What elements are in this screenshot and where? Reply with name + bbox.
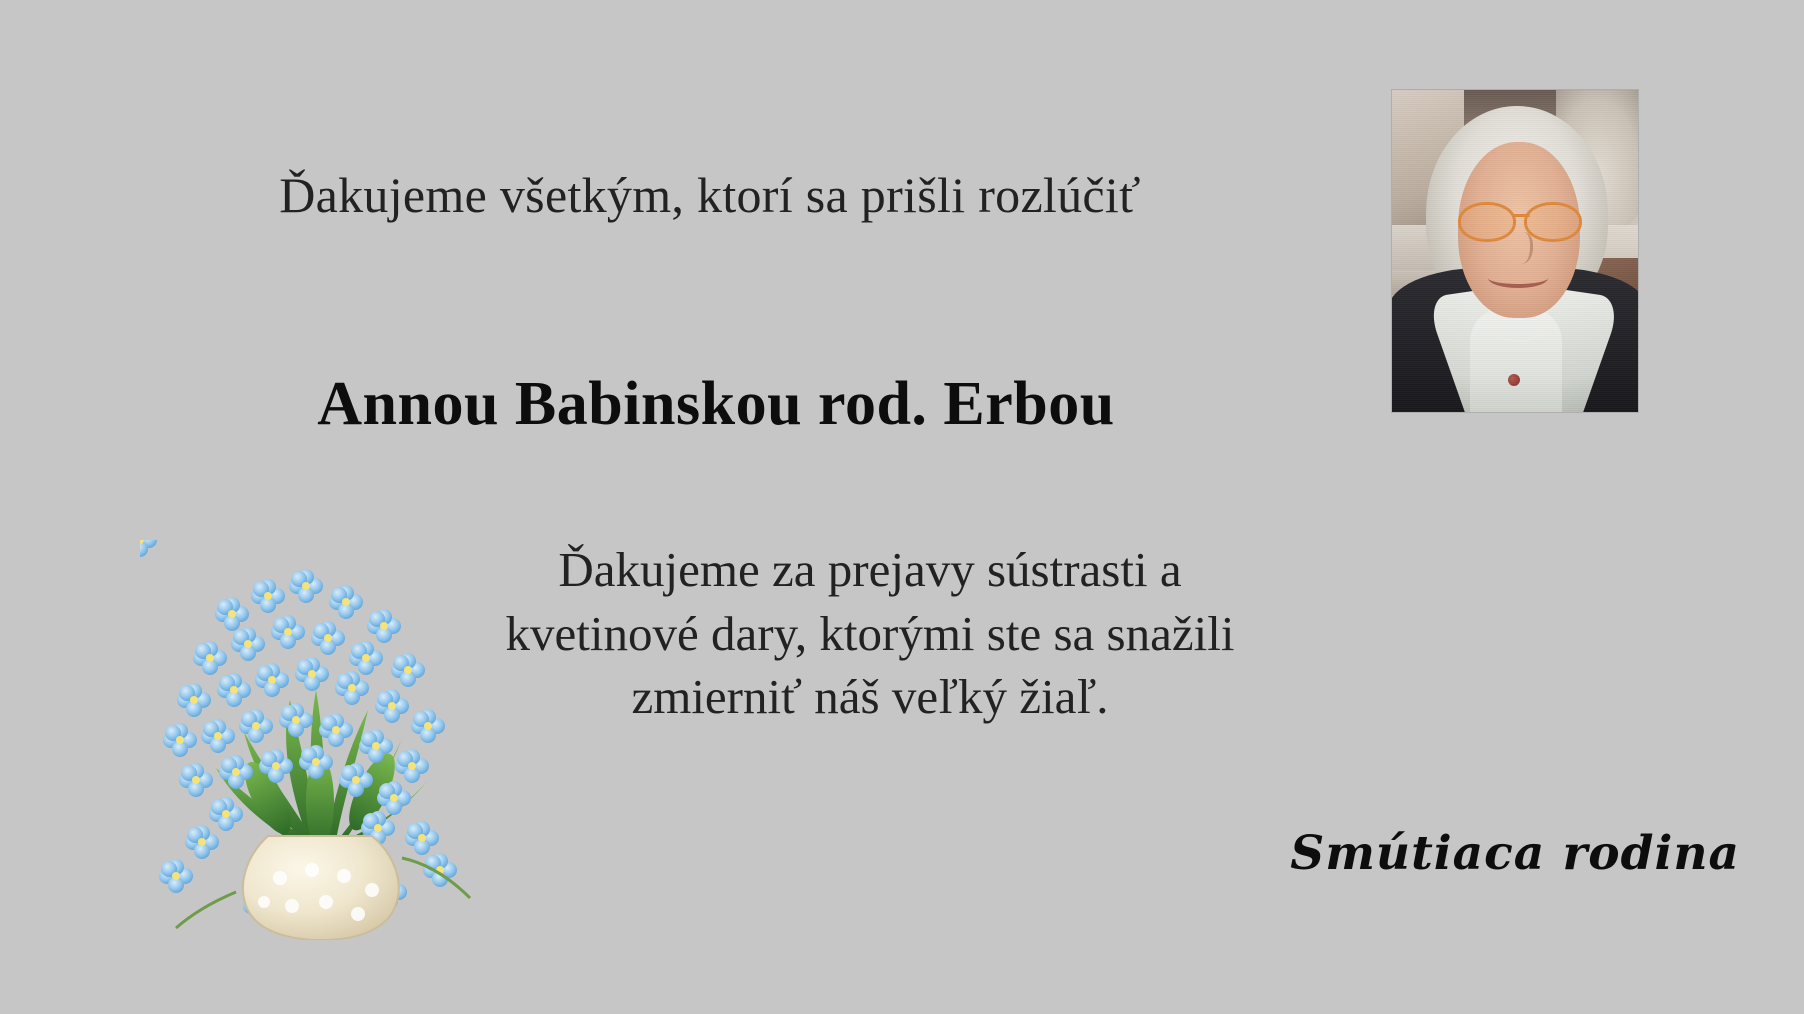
photo-eyeglasses <box>1454 202 1586 238</box>
body-line-3: zmierniť náš veľký žiaľ. <box>370 665 1370 729</box>
body-line-2: kvetinové dary, ktorými ste sa snažili <box>370 602 1370 666</box>
bouquet-vase <box>243 836 399 940</box>
photo-shirt-button <box>1508 374 1520 386</box>
deceased-name: Annou Babinskou rod. Erbou <box>0 372 1432 437</box>
body-line-1: Ďakujeme za prejavy sústrasti a <box>370 538 1370 602</box>
memorial-thank-you-card: Ďakujeme všetkým, ktorí sa prišli rozlúč… <box>0 0 1804 1014</box>
portrait-photo <box>1392 90 1638 412</box>
photo-lens-left <box>1458 202 1516 242</box>
photo-smile <box>1488 268 1548 288</box>
photo-lens-right <box>1524 202 1582 242</box>
body-paragraph: Ďakujeme za prejavy sústrasti a kvetinov… <box>370 538 1370 729</box>
thanks-line: Ďakujeme všetkým, ktorí sa prišli rozlúč… <box>0 168 1420 223</box>
